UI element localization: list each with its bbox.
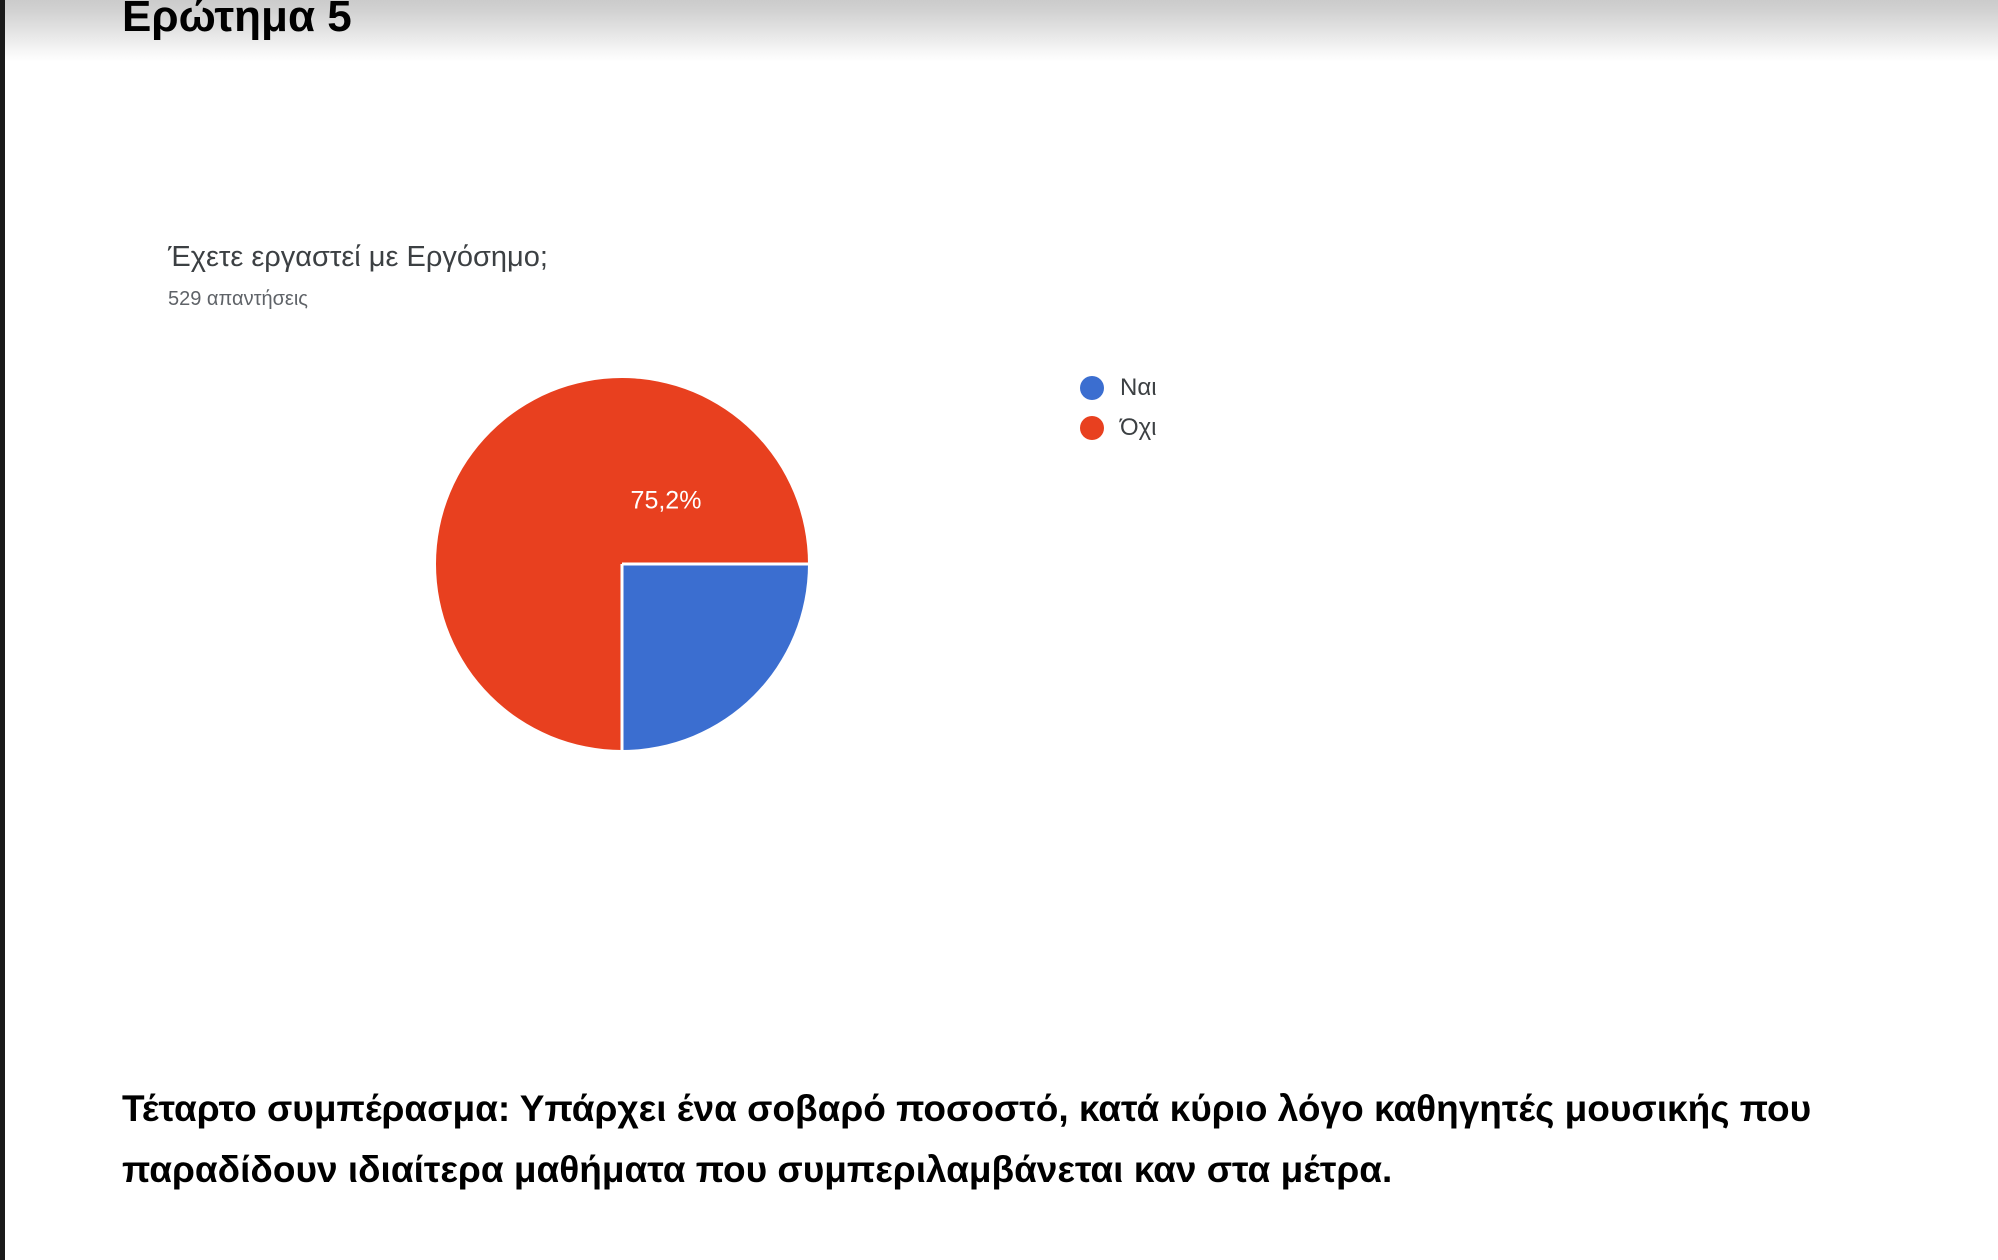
legend-item-ochi[interactable]: Όχι <box>1080 408 1157 448</box>
legend-label-ochi: Όχι <box>1120 416 1157 440</box>
pie-slice-nai <box>622 564 808 750</box>
chart-legend: Ναι Όχι <box>1080 368 1157 448</box>
slide-page: Ερώτημα 5 Έχετε εργαστεί με Εργόσημο; 52… <box>0 0 1998 1260</box>
pie-label-ochi: 75,2% <box>631 487 702 516</box>
legend-swatch-icon <box>1080 416 1104 440</box>
pie-label-nai: 24,8% <box>844 667 915 696</box>
chart-response-count: 529 απαντήσεις <box>168 286 1368 312</box>
legend-label-nai: Ναι <box>1120 376 1157 400</box>
conclusion-paragraph: Τέταρτο συμπέρασμα: Υπάρχει ένα σοβαρό π… <box>122 1078 1822 1200</box>
chart-title: Έχετε εργαστεί με Εργόσημο; <box>168 238 1368 276</box>
left-edge-border <box>0 0 5 1260</box>
pie-chart: 75,2% 24,8% <box>436 378 808 750</box>
survey-chart-block: Έχετε εργαστεί με Εργόσημο; 529 απαντήσε… <box>168 238 1368 312</box>
slide-heading: Ερώτημα 5 <box>122 0 352 44</box>
legend-item-nai[interactable]: Ναι <box>1080 368 1157 408</box>
chart-area: 75,2% 24,8% Ναι Όχι <box>168 364 1368 764</box>
legend-swatch-icon <box>1080 376 1104 400</box>
